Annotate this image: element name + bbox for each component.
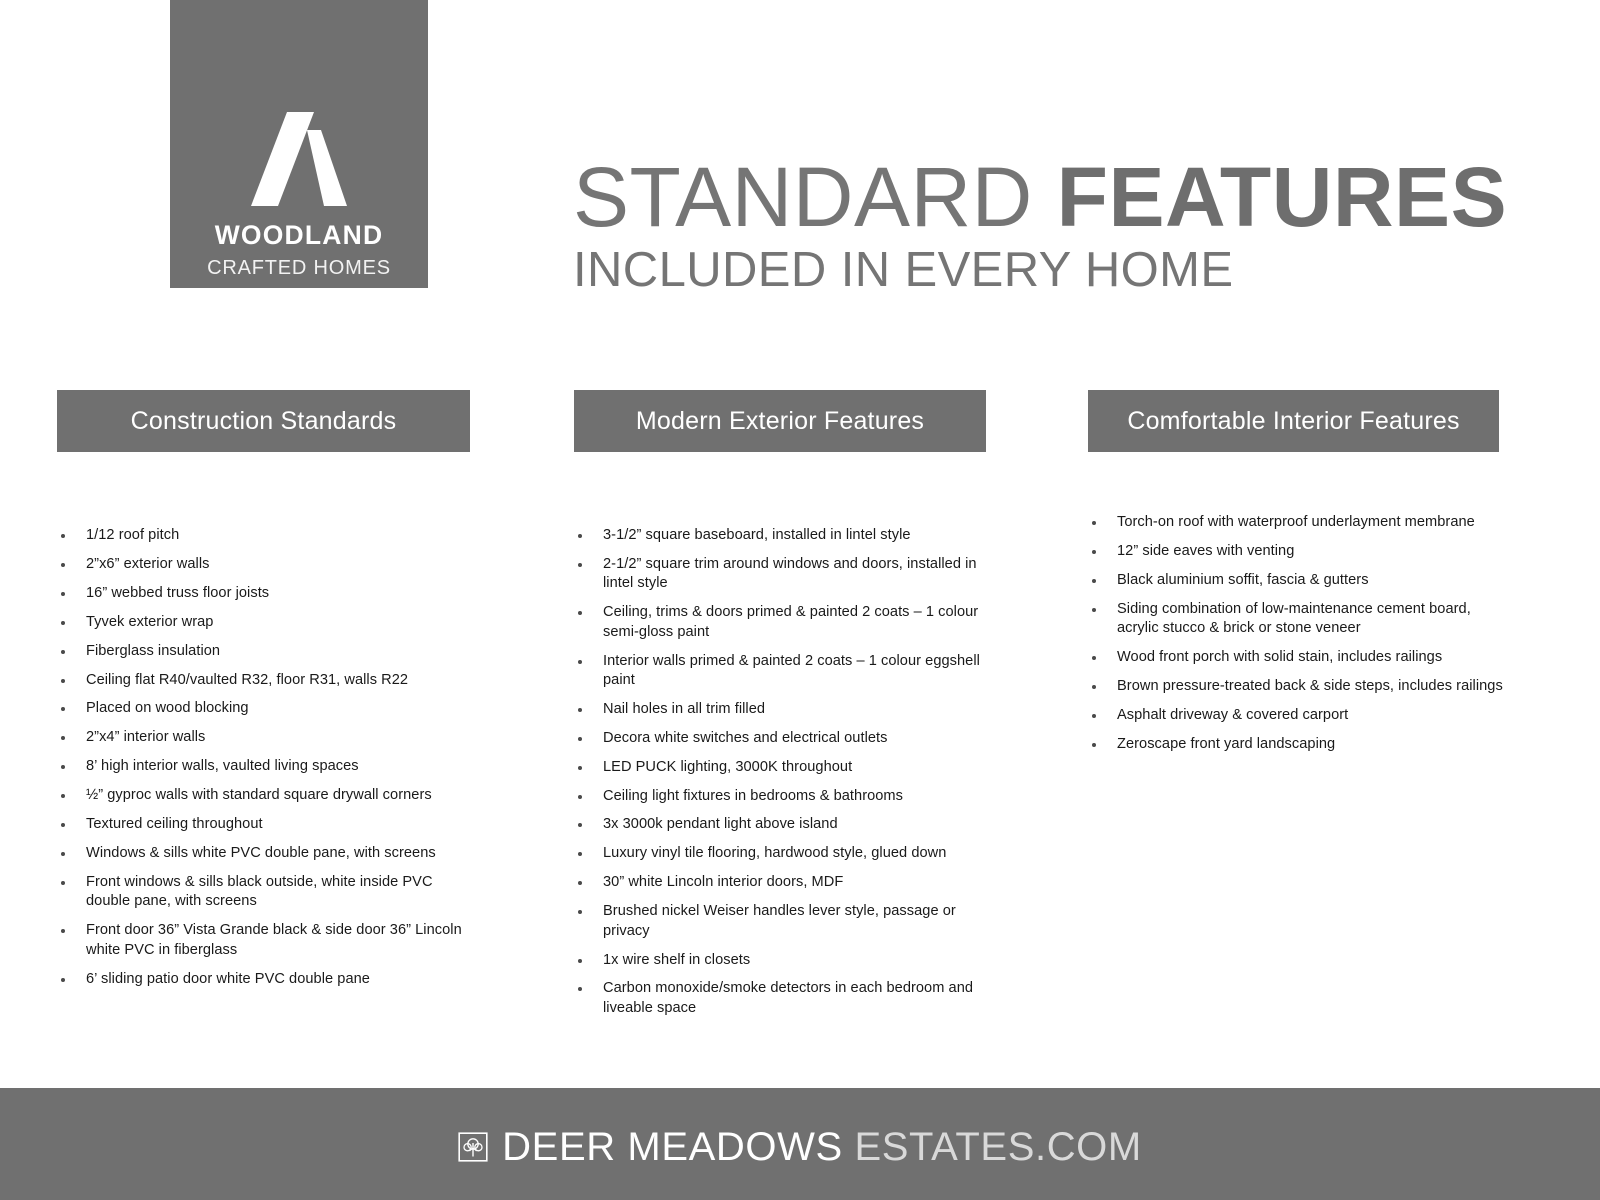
list-item: 2”x4” interior walls <box>57 728 470 747</box>
list-item: Interior walls primed & painted 2 coats … <box>574 652 986 691</box>
page-title-light: STANDARD <box>573 150 1057 244</box>
list-item: Black aluminium soffit, fascia & gutters <box>1088 571 1506 590</box>
footer-wordmark: DEER MEADOWS ESTATES.COM <box>502 1127 1142 1167</box>
column-header: Construction Standards <box>57 390 470 452</box>
footer-bar: DEER MEADOWS ESTATES.COM <box>0 1088 1600 1200</box>
list-item: 8’ high interior walls, vaulted living s… <box>57 757 470 776</box>
list-item: Placed on wood blocking <box>57 699 470 718</box>
list-item: Wood front porch with solid stain, inclu… <box>1088 648 1506 667</box>
list-item: 30” white Lincoln interior doors, MDF <box>574 873 986 892</box>
brand-tagline: CRAFTED HOMES <box>207 258 391 278</box>
tree-in-square-icon <box>458 1132 488 1162</box>
standard-features-page: WOODLAND CRAFTED HOMES STANDARD FEATURES… <box>0 0 1600 1200</box>
list-item: Zeroscape front yard landscaping <box>1088 735 1506 754</box>
list-item: Tyvek exterior wrap <box>57 613 470 632</box>
list-item: Front windows & sills black outside, whi… <box>57 873 470 912</box>
list-item: Nail holes in all trim filled <box>574 700 986 719</box>
column-header: Comfortable Interior Features <box>1088 390 1499 452</box>
list-item: Fiberglass insulation <box>57 642 470 661</box>
list-item: 2”x6” exterior walls <box>57 555 470 574</box>
list-item: 2-1/2” square trim around windows and do… <box>574 555 986 594</box>
list-item: Brushed nickel Weiser handles lever styl… <box>574 902 986 941</box>
list-item: Luxury vinyl tile flooring, hardwood sty… <box>574 844 986 863</box>
list-item: 3x 3000k pendant light above island <box>574 815 986 834</box>
list-item: Front door 36” Vista Grande black & side… <box>57 921 470 960</box>
list-item: 1x wire shelf in closets <box>574 951 986 970</box>
list-item: LED PUCK lighting, 3000K throughout <box>574 758 986 777</box>
feature-list: 1/12 roof pitch 2”x6” exterior walls 16”… <box>57 526 470 989</box>
list-item: 3-1/2” square baseboard, installed in li… <box>574 526 986 545</box>
column-comfortable-interior-features: Comfortable Interior Features Torch-on r… <box>1088 390 1499 764</box>
list-item: 1/12 roof pitch <box>57 526 470 545</box>
list-item: Decora white switches and electrical out… <box>574 729 986 748</box>
list-item: 6’ sliding patio door white PVC double p… <box>57 970 470 989</box>
list-item: Windows & sills white PVC double pane, w… <box>57 844 470 863</box>
list-item: Ceiling flat R40/vaulted R32, floor R31,… <box>57 671 470 690</box>
list-item: Siding combination of low-maintenance ce… <box>1088 600 1506 639</box>
list-item: 12” side eaves with venting <box>1088 542 1506 561</box>
page-subtitle: INCLUDED IN EVERY HOME <box>573 246 1233 295</box>
feature-list: 3-1/2” square baseboard, installed in li… <box>574 526 986 1018</box>
brand-logo-block: WOODLAND CRAFTED HOMES <box>170 0 428 288</box>
list-item: ½” gyproc walls with standard square dry… <box>57 786 470 805</box>
column-modern-exterior-features: Modern Exterior Features 3-1/2” square b… <box>574 390 986 1028</box>
feature-list: Torch-on roof with waterproof underlayme… <box>1088 513 1499 754</box>
list-item: Ceiling, trims & doors primed & painted … <box>574 603 986 642</box>
page-title-bold: FEATURES <box>1057 150 1507 244</box>
column-header: Modern Exterior Features <box>574 390 986 452</box>
footer-text-strong: DEER MEADOWS <box>502 1125 843 1169</box>
footer-text-light: ESTATES.COM <box>843 1125 1142 1169</box>
list-item: Carbon monoxide/smoke detectors in each … <box>574 979 986 1018</box>
woodland-a-mark-icon <box>251 112 347 206</box>
brand-name: WOODLAND <box>215 222 384 249</box>
page-title: STANDARD FEATURES <box>573 155 1507 239</box>
list-item: 16” webbed truss floor joists <box>57 584 470 603</box>
list-item: Ceiling light fixtures in bedrooms & bat… <box>574 787 986 806</box>
column-construction-standards: Construction Standards 1/12 roof pitch 2… <box>57 390 470 998</box>
list-item: Torch-on roof with waterproof underlayme… <box>1088 513 1506 532</box>
footer-brand: DEER MEADOWS ESTATES.COM <box>458 1127 1142 1167</box>
list-item: Brown pressure-treated back & side steps… <box>1088 677 1506 696</box>
list-item: Textured ceiling throughout <box>57 815 470 834</box>
list-item: Asphalt driveway & covered carport <box>1088 706 1506 725</box>
